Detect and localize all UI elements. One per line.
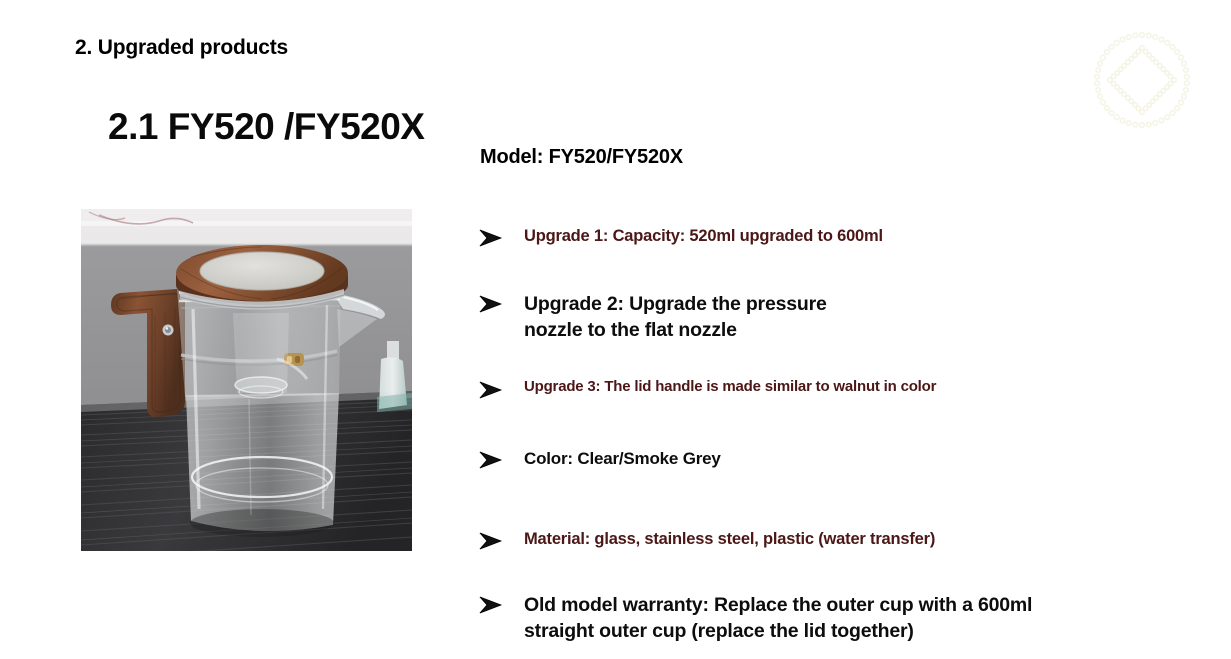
page-title: 2.1 FY520 /FY520X: [108, 106, 424, 148]
arrowhead-bullet-icon: [478, 595, 524, 615]
arrowhead-bullet-icon: [478, 531, 524, 551]
list-item-label: Upgrade 3: The lid handle is made simila…: [524, 378, 936, 397]
section-heading: 2. Upgraded products: [75, 36, 288, 60]
arrowhead-bullet-icon: [478, 380, 524, 400]
arrowhead-bullet-icon: [478, 450, 524, 470]
product-photo: [81, 209, 412, 551]
dotted-circle-diamond-logo-icon: [1088, 28, 1196, 132]
model-label: Model: FY520/FY520X: [480, 146, 683, 169]
list-item-label: Upgrade 2: Upgrade the pressure nozzle t…: [524, 292, 827, 343]
list-item: Upgrade 1: Capacity: 520ml upgraded to 6…: [478, 226, 883, 247]
arrowhead-bullet-icon: [478, 228, 524, 248]
list-item: Old model warranty: Replace the outer cu…: [478, 593, 1032, 644]
list-item-label: Upgrade 1: Capacity: 520ml upgraded to 6…: [524, 226, 883, 247]
list-item-label: Material: glass, stainless steel, plasti…: [524, 529, 935, 550]
list-item-label: Color: Clear/Smoke Grey: [524, 448, 721, 469]
arrowhead-bullet-icon: [478, 294, 524, 314]
list-item: Color: Clear/Smoke Grey: [478, 448, 721, 469]
list-item: Upgrade 2: Upgrade the pressure nozzle t…: [478, 292, 827, 343]
slide-canvas: 2. Upgraded products 2.1 FY520 /FY520X M…: [0, 0, 1231, 659]
list-item: Material: glass, stainless steel, plasti…: [478, 529, 935, 550]
list-item: Upgrade 3: The lid handle is made simila…: [478, 378, 936, 398]
list-item-label: Old model warranty: Replace the outer cu…: [524, 593, 1032, 644]
